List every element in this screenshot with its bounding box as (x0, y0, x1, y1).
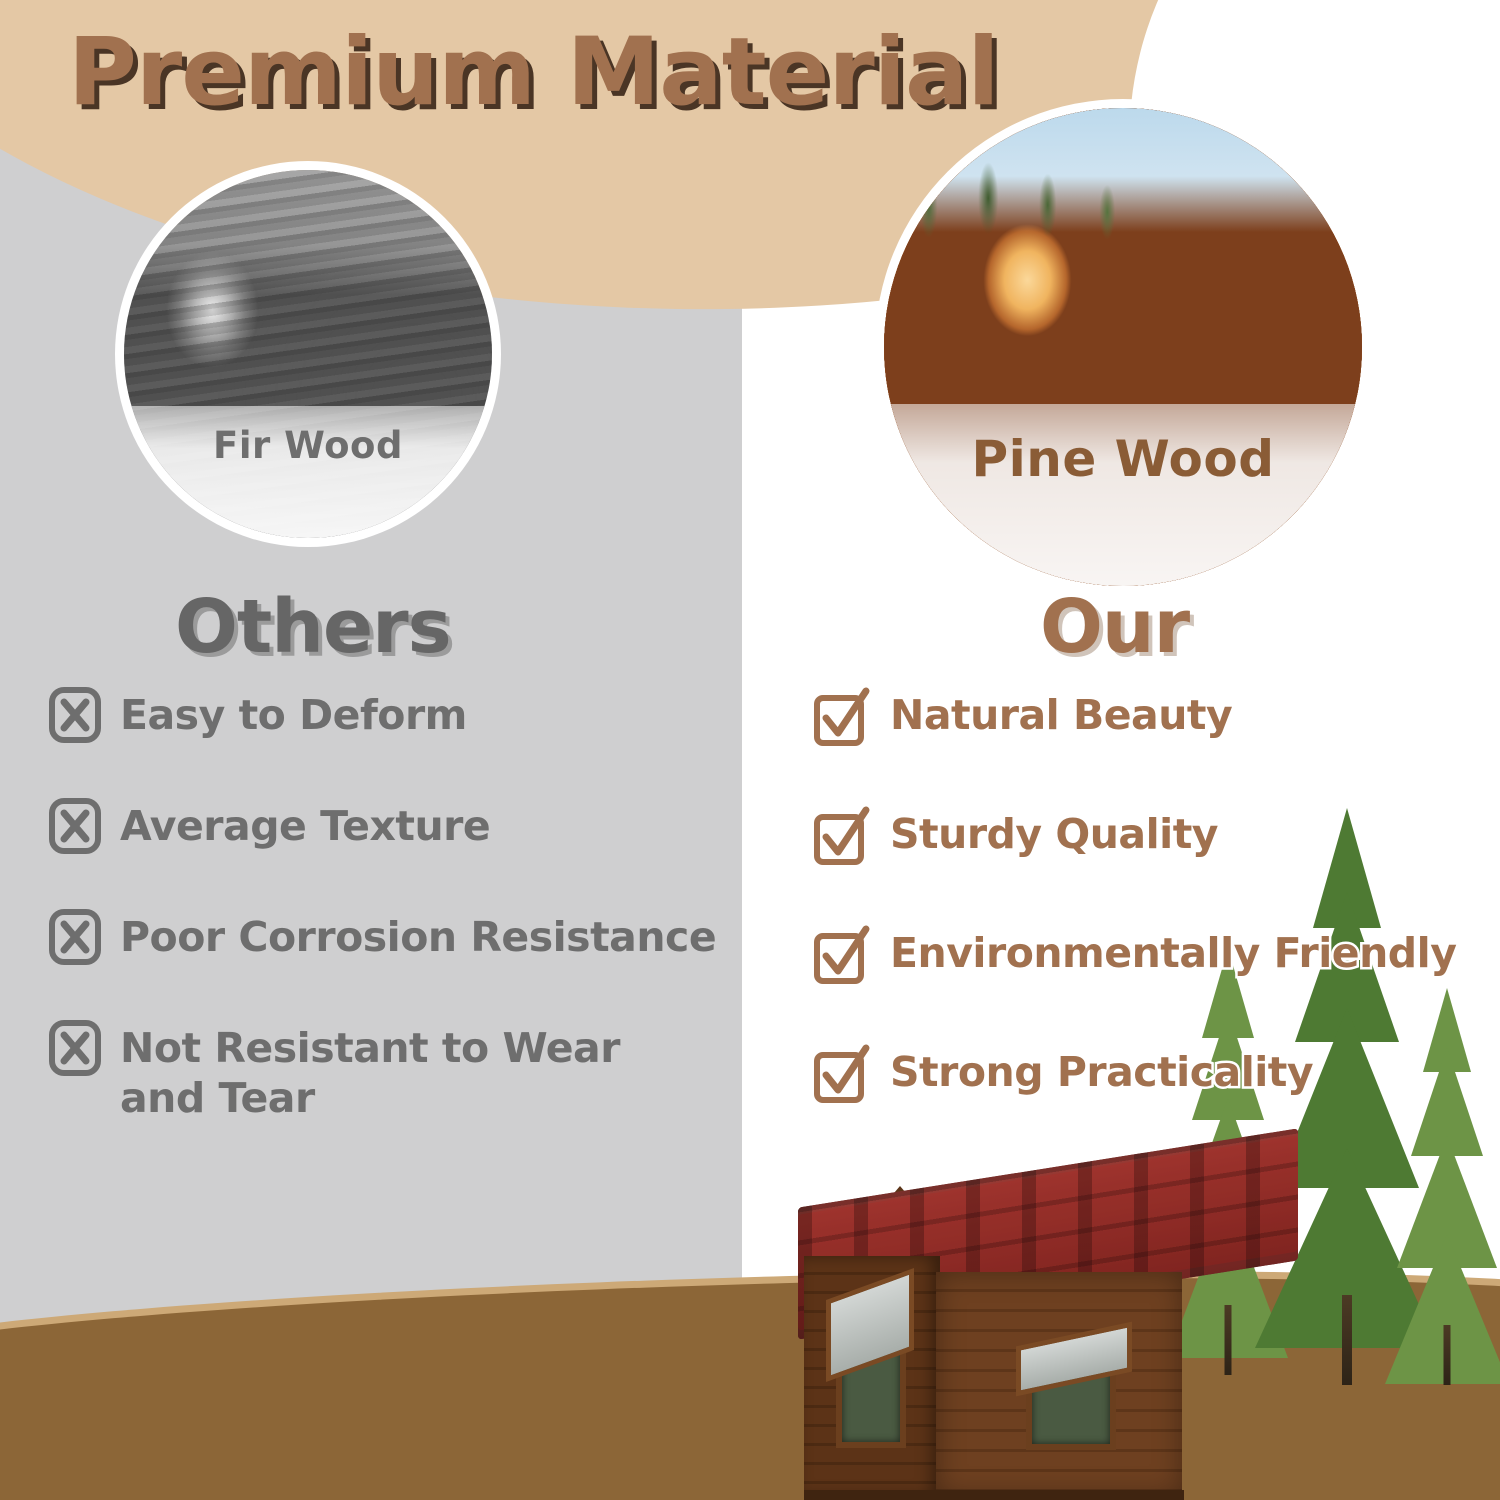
x-box-icon (48, 1019, 102, 1082)
our-feature-list: Natural Beauty Sturdy Quality Environmen… (812, 690, 1500, 1166)
list-item: Strong Practicality (812, 1047, 1500, 1110)
house-base (804, 1490, 1184, 1500)
fir-wood-caption-overlay: Fir Wood (124, 406, 492, 538)
list-item-label: Poor Corrosion Resistance (120, 912, 716, 962)
x-box-icon (48, 686, 102, 749)
list-item: Sturdy Quality (812, 809, 1500, 872)
list-item: Environmentally Friendly (812, 928, 1500, 991)
others-feature-list: Easy to Deform Average Texture Poor Corr… (48, 690, 748, 1175)
page-title: Premium Material (68, 26, 999, 120)
list-item: Average Texture (48, 801, 748, 860)
list-item: Easy to Deform (48, 690, 748, 749)
our-heading: Our (1040, 590, 1189, 664)
pine-wood-caption-overlay: Pine Wood (884, 404, 1362, 586)
wooden-dog-house-image (790, 1168, 1310, 1500)
check-box-icon (812, 686, 872, 753)
check-box-icon (812, 924, 872, 991)
fir-wood-badge: Fir Wood (124, 170, 492, 538)
infographic-canvas: Premium Material Fir Wood Pine Wood Othe… (0, 0, 1500, 1500)
list-item-label: Strong Practicality (890, 1047, 1313, 1097)
pine-wood-label: Pine Wood (971, 430, 1274, 488)
fir-wood-label: Fir Wood (213, 424, 403, 467)
check-box-icon (812, 1043, 872, 1110)
list-item-label: Not Resistant to Wear and Tear (120, 1023, 680, 1123)
list-item-label: Environmentally Friendly (890, 928, 1456, 978)
x-box-icon (48, 797, 102, 860)
list-item-label: Sturdy Quality (890, 809, 1218, 859)
list-item: Not Resistant to Wear and Tear (48, 1023, 748, 1123)
list-item-label: Average Texture (120, 801, 490, 851)
x-box-icon (48, 908, 102, 971)
check-box-icon (812, 805, 872, 872)
others-heading: Others (175, 590, 451, 664)
list-item: Natural Beauty (812, 690, 1500, 753)
list-item-label: Easy to Deform (120, 690, 467, 740)
pine-wood-badge: Pine Wood (884, 108, 1362, 586)
list-item: Poor Corrosion Resistance (48, 912, 748, 971)
list-item-label: Natural Beauty (890, 690, 1232, 740)
